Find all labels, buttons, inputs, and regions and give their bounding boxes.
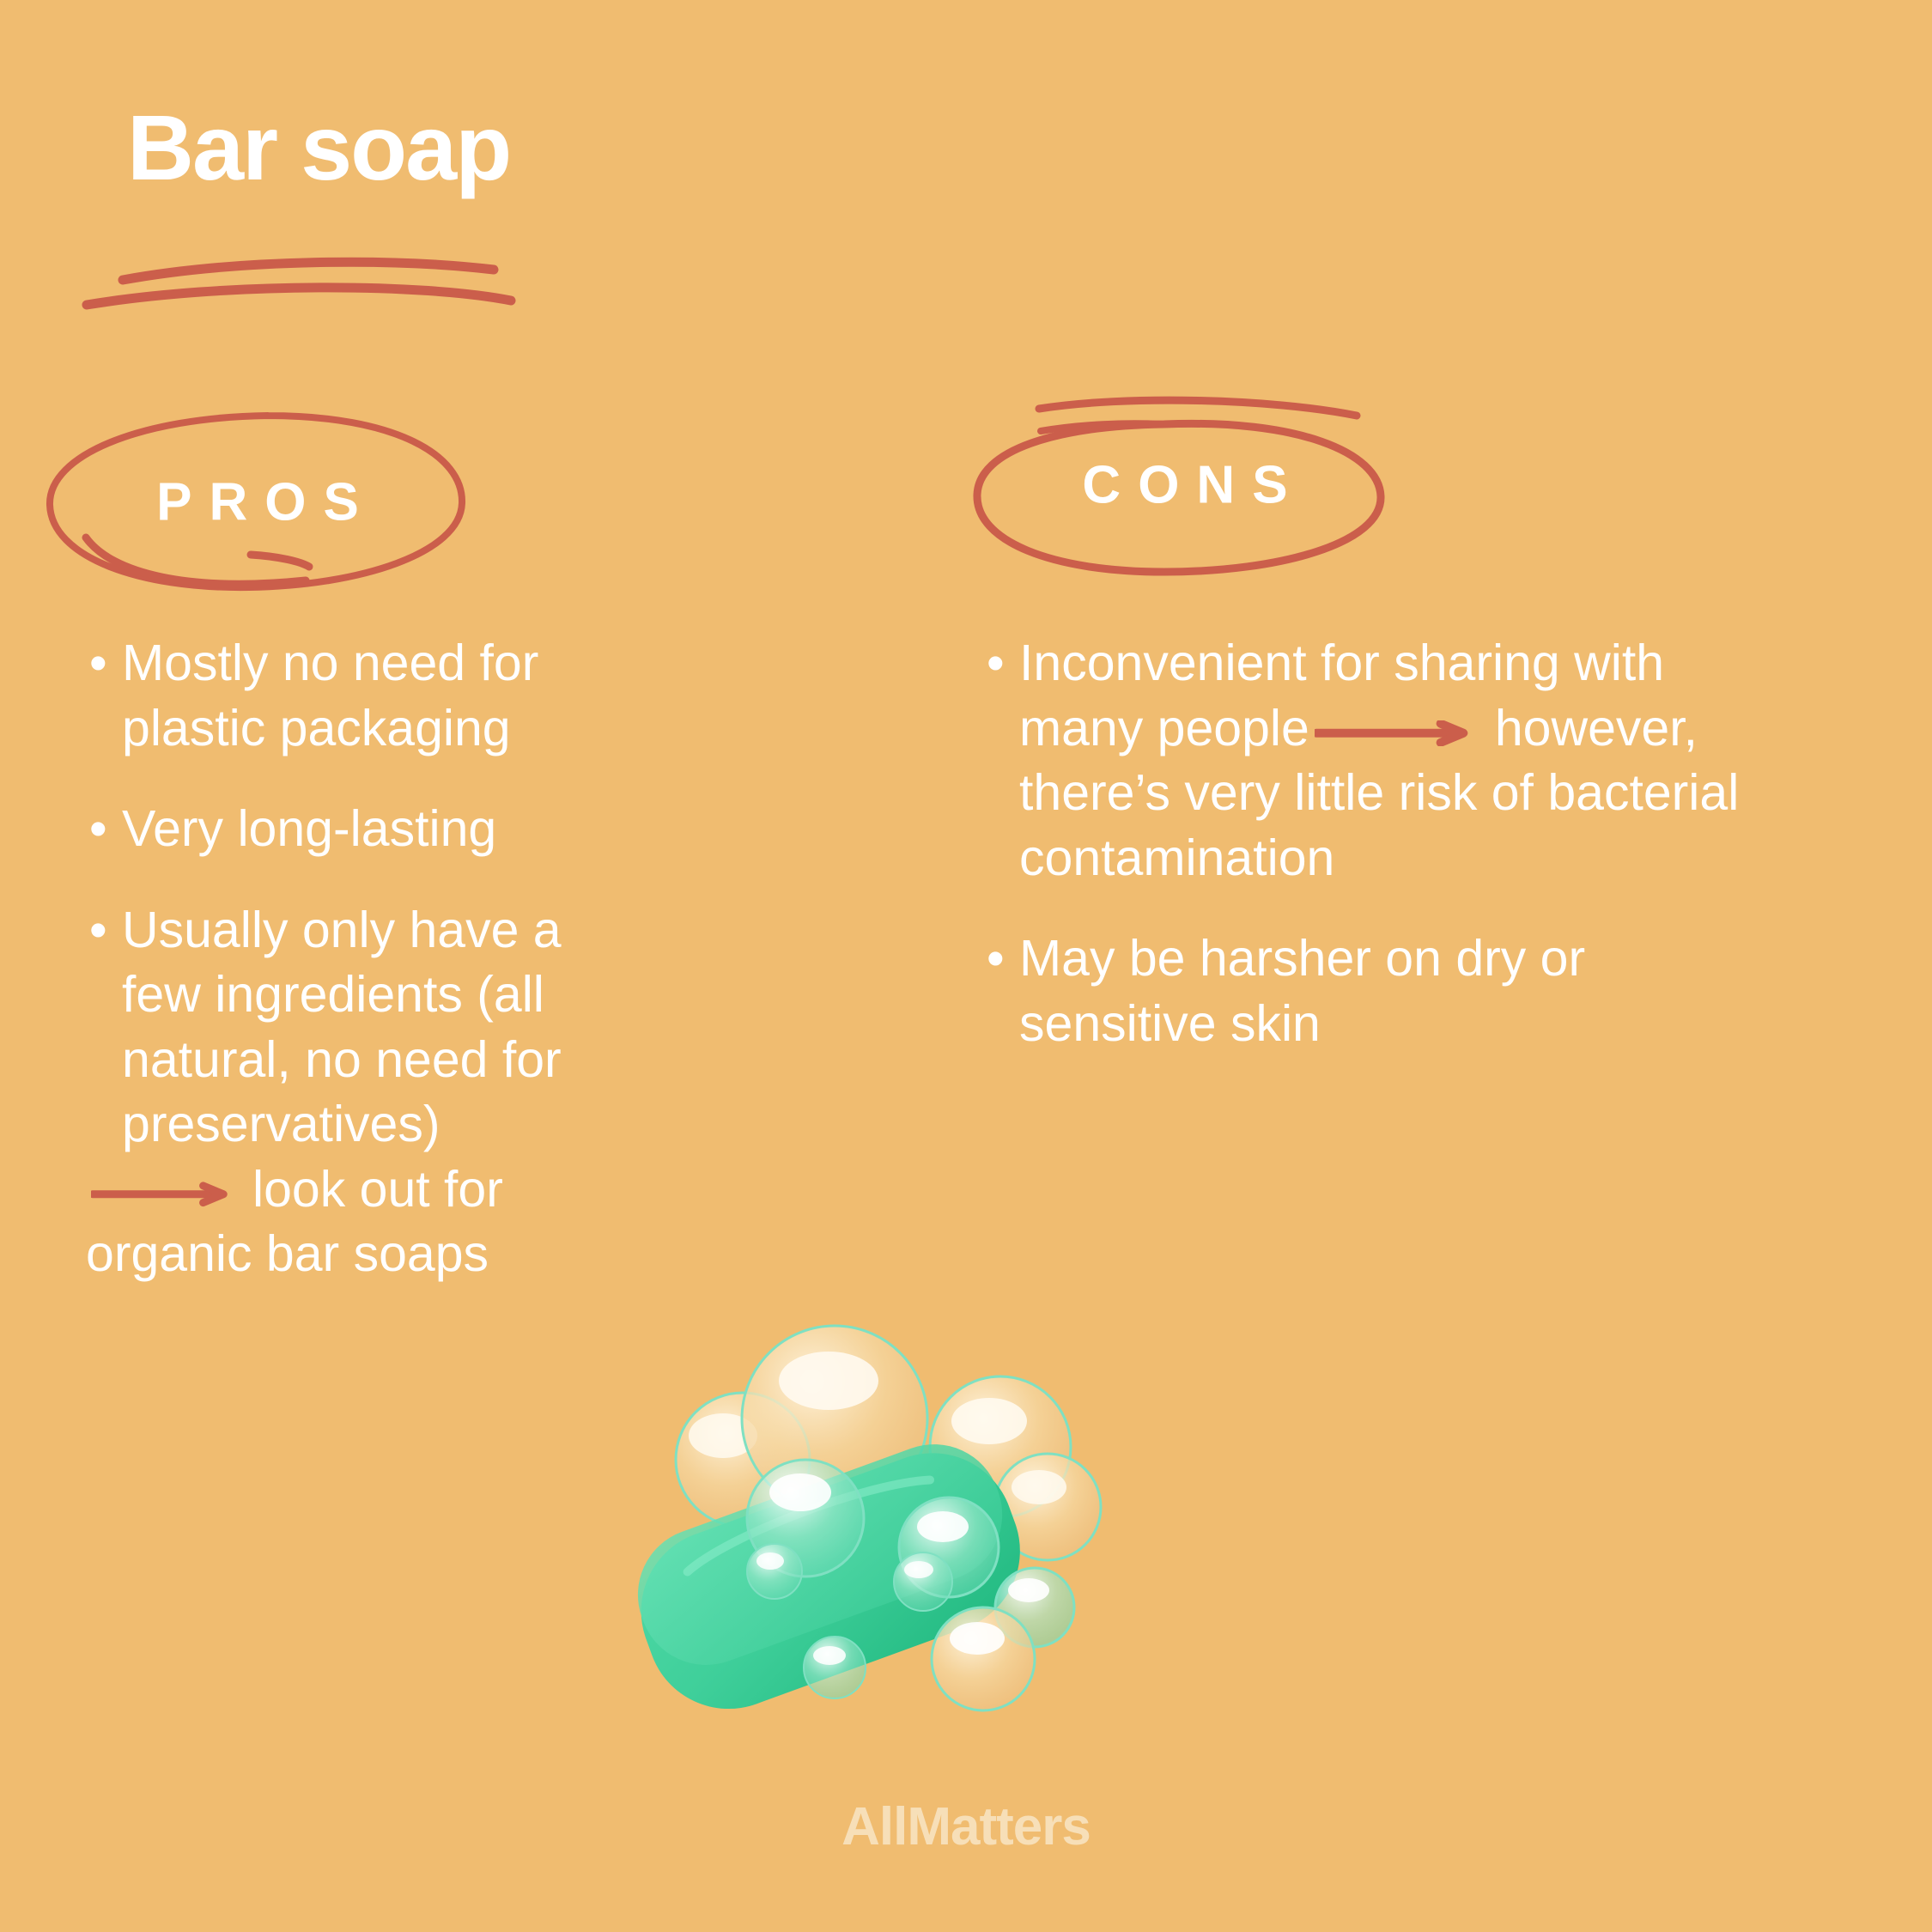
infographic-canvas: Bar soap PROS CONS • Mostly no need for … [0,0,1932,1932]
section-header-cons: CONS [962,386,1408,584]
list-item: • May be harsher on dry or sensitive ski… [983,927,1756,1056]
pros-label: PROS [34,472,481,533]
title-underline-scribble [82,240,700,343]
page-title: Bar soap [127,101,510,194]
brand-logo: AllMatters [0,1796,1932,1857]
bullet-dot: • [89,631,122,696]
section-header-pros: PROS [34,404,481,601]
list-item: • Mostly no need for plastic packaging [86,631,653,761]
list-item: • Inconvenient for sharing with many peo… [983,631,1756,890]
bullet-text: Usually only have a few ingredients (all… [122,902,562,1153]
bullet-dot: • [89,898,122,963]
right-arrow-icon [91,1182,244,1207]
cons-label: CONS [962,455,1408,516]
right-arrow-icon [1315,720,1486,746]
list-item: • Usually only have a few ingredients (a… [86,898,653,1287]
cons-list: • Inconvenient for sharing with many peo… [983,631,1756,1092]
list-item: • Very long-lasting [86,797,653,862]
bullet-dot: • [987,927,1019,992]
bullet-text-after-arrow: look out for organic bar soaps [86,1161,503,1283]
bar-soap-illustration [532,1288,1116,1786]
pros-list: • Mostly no need for plastic packaging •… [86,631,653,1323]
bullet-dot: • [987,631,1019,696]
bullet-text: Very long-lasting [122,797,653,862]
bullet-dot: • [89,797,122,862]
bullet-text: May be harsher on dry or sensitive skin [1019,927,1756,1056]
bullet-text: Mostly no need for plastic packaging [122,631,653,761]
